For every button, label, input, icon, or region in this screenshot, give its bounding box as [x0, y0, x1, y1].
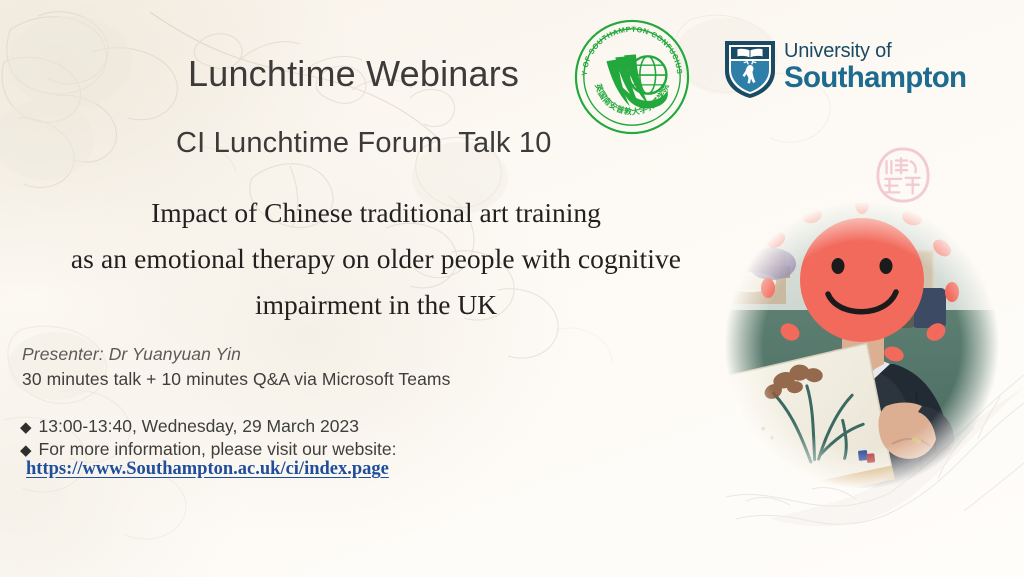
participant-photo — [716, 192, 1008, 498]
southampton-wordmark: University of Southampton — [784, 40, 966, 94]
talk-title-line-1: Impact of Chinese traditional art traini… — [18, 190, 734, 236]
subtitle-forum: CI Lunchtime Forum Talk 10 — [176, 127, 552, 160]
webinar-poster: Lunchtime Webinars CI Lunchtime Forum Ta… — [0, 0, 1024, 577]
presenter-name: Presenter: Dr Yuanyuan Yin — [22, 344, 241, 365]
talk-title-line-3: impairment in the UK — [18, 282, 734, 328]
confucius-institute-logo-icon: UNIVERSITY OF SOUTHAMPTON CONFUCIUS INST… — [573, 18, 691, 136]
southampton-shield-icon — [722, 38, 778, 100]
talk-title-line-2: as an emotional therapy on older people … — [18, 236, 734, 282]
wordmark-line-2: Southampton — [784, 62, 966, 94]
page-title: Lunchtime Webinars — [188, 53, 519, 95]
talk-title: Impact of Chinese traditional art traini… — [18, 190, 734, 328]
website-link[interactable]: https://www.Southampton.ac.uk/ci/index.p… — [26, 459, 389, 480]
participant-photo-illustration — [716, 192, 1008, 498]
bullet-datetime: ◆ 13:00-13:40, Wednesday, 29 March 2023 — [20, 416, 359, 437]
bullet-more-info: ◆ For more information, please visit our… — [20, 439, 396, 460]
diamond-bullet-icon: ◆ — [20, 420, 32, 435]
bullet-datetime-label: 13:00-13:40, Wednesday, 29 March 2023 — [39, 416, 359, 437]
bullet-more-info-label: For more information, please visit our w… — [39, 439, 397, 460]
wordmark-line-1: University of — [784, 40, 966, 62]
university-of-southampton-logo: University of Southampton — [722, 38, 954, 100]
diamond-bullet-icon: ◆ — [20, 443, 32, 458]
talk-duration: 30 minutes talk + 10 minutes Q&A via Mic… — [22, 369, 450, 390]
